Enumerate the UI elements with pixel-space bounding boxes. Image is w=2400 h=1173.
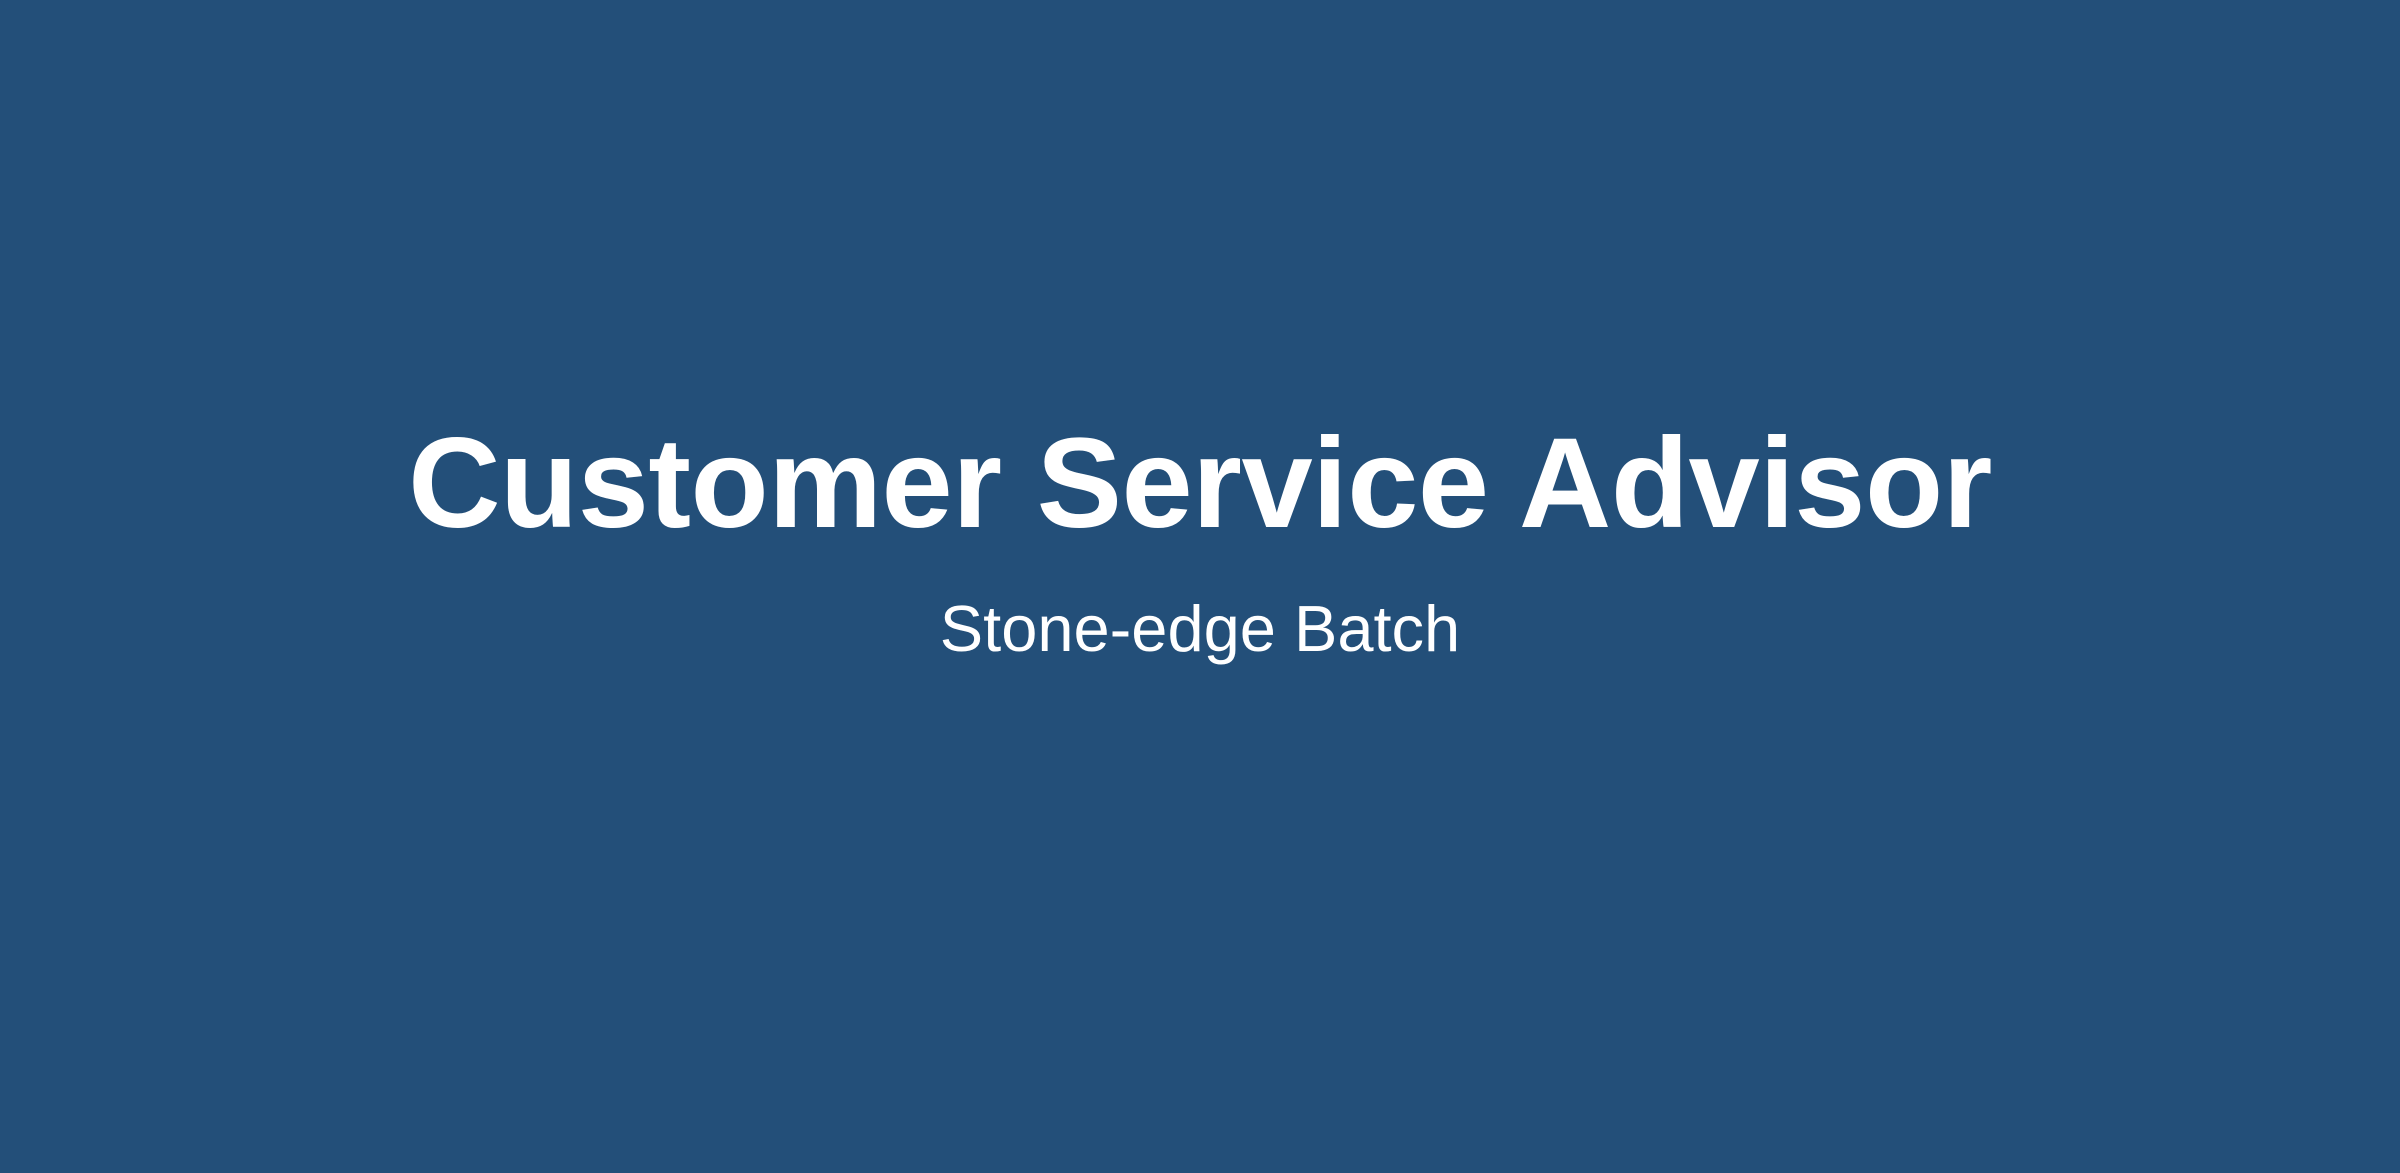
title-slide: Customer Service Advisor Stone-edge Batc… <box>0 0 2400 1173</box>
slide-title: Customer Service Advisor <box>408 420 1992 548</box>
slide-subtitle: Stone-edge Batch <box>940 596 1460 661</box>
title-block: Customer Service Advisor Stone-edge Batc… <box>0 420 2400 661</box>
